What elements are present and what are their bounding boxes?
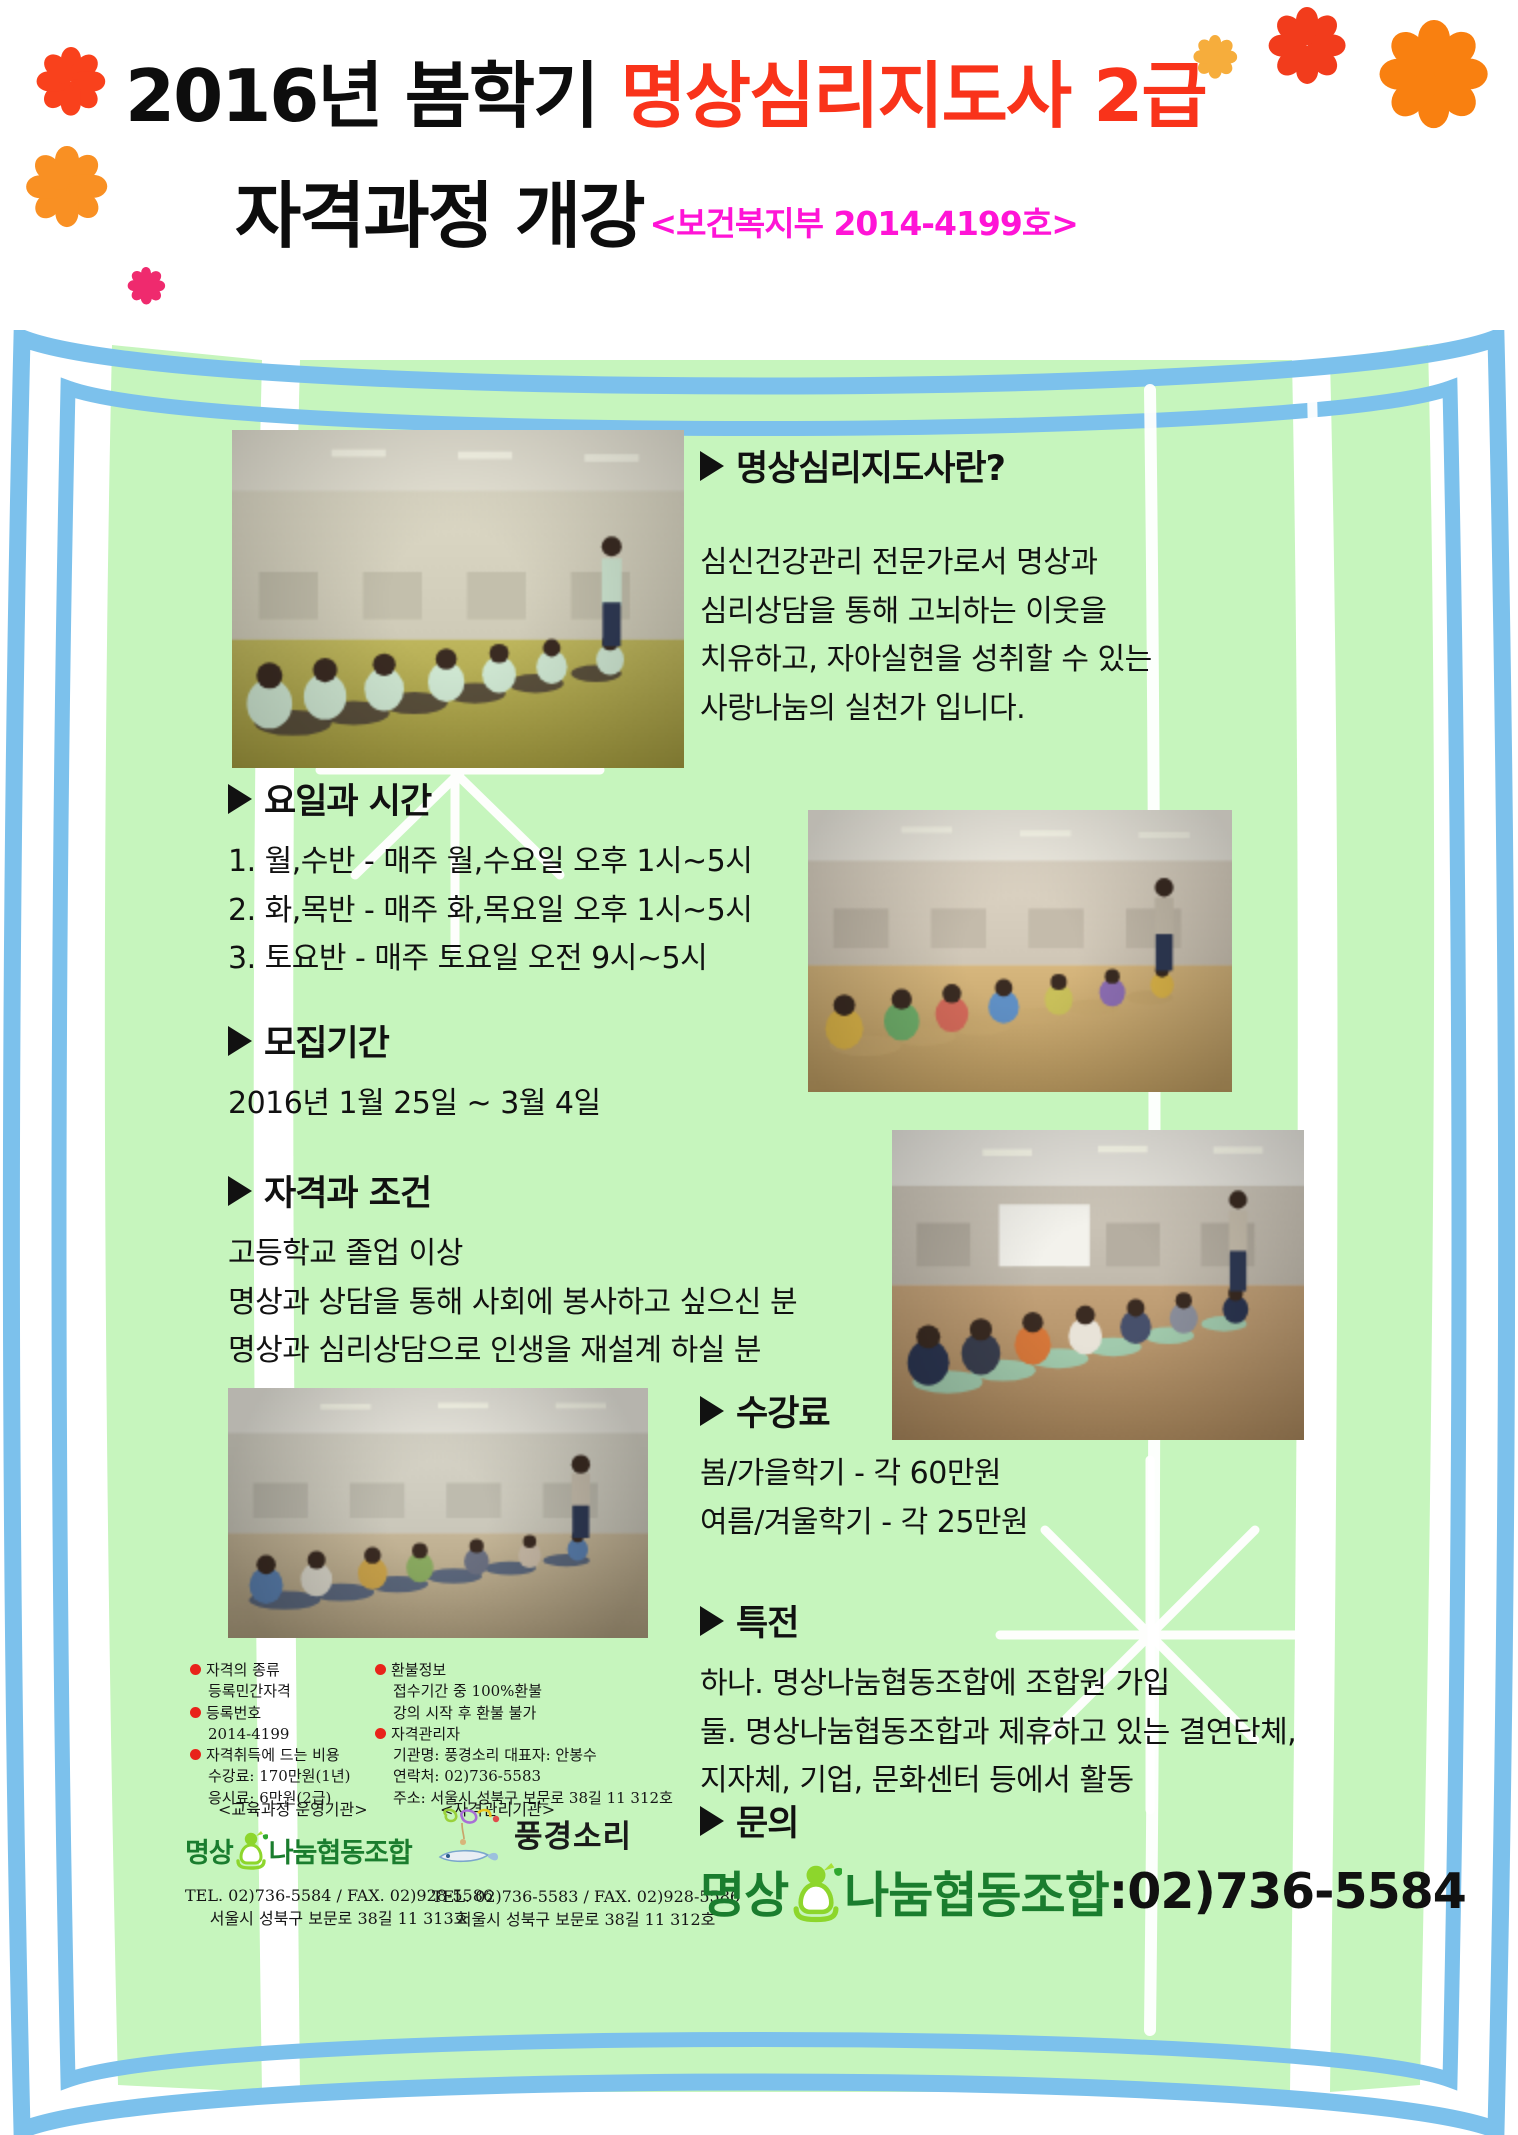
- section-schedule-heading: 요일과 시간: [228, 773, 752, 824]
- schedule-line: 2. 화,목반 - 매주 화,목요일 오후 1시~5시: [228, 887, 752, 936]
- section-intro-heading: 명상심리지도사란?: [700, 440, 1152, 491]
- section-requirements: 자격과 조건 고등학교 졸업 이상 명상과 상담을 통해 사회에 봉사하고 싶으…: [228, 1165, 797, 1376]
- fineprint-item-detail: 수강료: 170만원(1년): [190, 1766, 351, 1787]
- fineprint-col-left: 자격의 종류등록민간자격등록번호2014-4199자격취득에 드는 비용수강료:…: [190, 1660, 351, 1809]
- wind-chime-fish-icon: 풍경소리: [432, 1805, 632, 1869]
- section-period-heading: 모집기간: [228, 1015, 601, 1066]
- contact-phone-number: 02)736-5584: [1127, 1863, 1466, 1920]
- fineprint-item-detail: 접수기간 중 100%환불: [375, 1681, 673, 1702]
- flower-red-top: [1270, 8, 1344, 82]
- fineprint-item-title: 자격의 종류: [206, 1660, 280, 1681]
- fineprint-item: 등록번호2014-4199: [190, 1703, 351, 1746]
- fineprint-col-right: 환불정보접수기간 중 100%환불강의 시작 후 환불 불가자격관리자기관명: …: [375, 1660, 673, 1809]
- section-intro-heading-text: 명상심리지도사란?: [736, 440, 1005, 491]
- benefits-line: 하나. 명상나눔협동조합에 조합원 가입: [700, 1660, 1296, 1709]
- fineprint-item: 자격의 종류등록민간자격: [190, 1660, 351, 1703]
- triangle-bullet-icon: [700, 1396, 724, 1426]
- fineprint-caption-left: <교육과정 운영기관>: [218, 1796, 368, 1820]
- flower-orange-left: [28, 148, 106, 226]
- triangle-bullet-icon: [228, 784, 252, 814]
- fineprint-item-detail: 기관명: 풍경소리 대표자: 안봉수: [375, 1745, 673, 1766]
- intro-line: 심리상담을 통해 고뇌하는 이웃을: [700, 588, 1152, 637]
- tuition-line: 여름/겨울학기 - 각 25만원: [700, 1499, 1028, 1548]
- fineprint-item-title-row: 자격관리자: [375, 1724, 673, 1745]
- flower-yellow-small: [1194, 36, 1236, 78]
- flower-red-topleft: [38, 48, 104, 114]
- tuition-line: 봄/가을학기 - 각 60만원: [700, 1450, 1028, 1499]
- section-period: 모집기간 2016년 1월 25일 ~ 3월 4일: [228, 1015, 601, 1129]
- section-requirements-heading: 자격과 조건: [228, 1165, 797, 1216]
- red-dot-bullet-icon: [190, 1749, 201, 1760]
- svg-text:풍경소리: 풍경소리: [514, 1819, 632, 1855]
- triangle-bullet-icon: [700, 1606, 724, 1636]
- requirements-line: 명상과 상담을 통해 사회에 봉사하고 싶으신 분: [228, 1279, 797, 1328]
- fineprint-item-title-row: 등록번호: [190, 1703, 351, 1724]
- red-dot-bullet-icon: [375, 1728, 386, 1739]
- poster-title-block: 2016년 봄학기 명상심리지도사 2급 자격과정 개강<보건복지부 2014-…: [0, 50, 1518, 320]
- contact-org-post: 나눔협동조합: [844, 1856, 1108, 1927]
- benefits-line: 둘. 명상나눔협동조합과 제휴하고 있는 결연단체,: [700, 1709, 1296, 1758]
- section-schedule: 요일과 시간 1. 월,수반 - 매주 월,수요일 오후 1시~5시 2. 화,…: [228, 773, 752, 984]
- section-tuition: 수강료 봄/가을학기 - 각 60만원 여름/겨울학기 - 각 25만원: [700, 1385, 1028, 1547]
- fineprint-item-title-row: 자격의 종류: [190, 1660, 351, 1681]
- triangle-bullet-icon: [700, 451, 724, 481]
- schedule-line: 1. 월,수반 - 매주 월,수요일 오후 1시~5시: [228, 838, 752, 887]
- fineprint-item-detail: 2014-4199: [190, 1724, 351, 1745]
- title-course-open: 자격과정 개강: [235, 174, 644, 258]
- logo-right-tel: TEL. 02)736-5583 / FAX. 02)928-5586: [432, 1885, 740, 1908]
- fineprint-item-detail: 강의 시작 후 환불 불가: [375, 1703, 673, 1724]
- logo-right-contact: TEL. 02)736-5583 / FAX. 02)928-5586 서울시 …: [432, 1885, 740, 1931]
- triangle-bullet-icon: [228, 1026, 252, 1056]
- poster-root: 2016년 봄학기 명상심리지도사 2급 자격과정 개강<보건복지부 2014-…: [0, 0, 1518, 2135]
- fineprint-item-title: 자격관리자: [391, 1724, 460, 1745]
- triangle-bullet-icon: [228, 1176, 252, 1206]
- contact-organization-phone: 명상 나눔협동조합 : 02)736-5584: [700, 1856, 1466, 1927]
- intro-line: 치유하고, 자아실현을 성취할 수 있는: [700, 636, 1152, 685]
- intro-line: 심신건강관리 전문가로서 명상과: [700, 539, 1152, 588]
- flower-orange-topright: [1382, 22, 1486, 126]
- section-benefits: 특전 하나. 명상나눔협동조합에 조합원 가입 둘. 명상나눔협동조합과 제휴하…: [700, 1595, 1296, 1806]
- contact-separator: :: [1109, 1863, 1128, 1920]
- title-course-name: 명상심리지도사 2급: [620, 54, 1205, 138]
- section-benefits-heading-text: 특전: [736, 1595, 798, 1646]
- section-schedule-heading-text: 요일과 시간: [264, 773, 431, 824]
- title-registration-number: <보건복지부 2014-4199호>: [650, 204, 1078, 243]
- intro-line: 사랑나눔의 실천가 입니다.: [700, 685, 1152, 734]
- logo-right-address: 서울시 성북구 보문로 38길 11 312호: [432, 1908, 740, 1931]
- requirements-line: 명상과 심리상담으로 인생을 재설계 하실 분: [228, 1327, 797, 1376]
- fineprint-item-title-row: 환불정보: [375, 1660, 673, 1681]
- title-year-term: 2016년 봄학기: [125, 54, 620, 138]
- red-dot-bullet-icon: [190, 1664, 201, 1675]
- requirements-line: 고등학교 졸업 이상: [228, 1230, 797, 1279]
- red-dot-bullet-icon: [190, 1707, 201, 1718]
- fineprint-item-detail: 연락처: 02)736-5583: [375, 1766, 673, 1787]
- meditating-figure-icon: [790, 1861, 842, 1923]
- section-requirements-heading-text: 자격과 조건: [264, 1165, 431, 1216]
- flower-pink-lowleft: [128, 268, 164, 304]
- fineprint-item-title: 환불정보: [391, 1660, 446, 1681]
- fineprint-item-title: 등록번호: [206, 1703, 261, 1724]
- section-tuition-heading: 수강료: [700, 1385, 1028, 1436]
- section-benefits-heading: 특전: [700, 1595, 1296, 1646]
- red-dot-bullet-icon: [375, 1664, 386, 1675]
- section-tuition-heading-text: 수강료: [736, 1385, 830, 1436]
- logo-pungyeongsori: 풍경소리 TEL. 02)736-5583 / FAX. 02)928-5586…: [432, 1805, 740, 1931]
- section-inquiry-heading-text: 문의: [736, 1795, 798, 1846]
- contact-org-pre: 명상: [700, 1856, 788, 1927]
- section-period-heading-text: 모집기간: [264, 1015, 389, 1066]
- fineprint-item-title-row: 자격취득에 드는 비용: [190, 1745, 351, 1766]
- title-line-2: 자격과정 개강<보건복지부 2014-4199호>: [235, 180, 1078, 252]
- logo-name-post: 나눔협동조합: [269, 1831, 412, 1870]
- meditating-figure-icon: [234, 1830, 268, 1870]
- logo-name-pre: 명상: [185, 1831, 233, 1870]
- fineprint-block: 자격의 종류등록민간자격등록번호2014-4199자격취득에 드는 비용수강료:…: [190, 1660, 710, 1790]
- period-line: 2016년 1월 25일 ~ 3월 4일: [228, 1080, 601, 1129]
- title-line-1: 2016년 봄학기 명상심리지도사 2급: [125, 60, 1206, 132]
- fineprint-item: 환불정보접수기간 중 100%환불강의 시작 후 환불 불가: [375, 1660, 673, 1724]
- fineprint-item-title: 자격취득에 드는 비용: [206, 1745, 340, 1766]
- section-intro: 명상심리지도사란? 심신건강관리 전문가로서 명상과 심리상담을 통해 고뇌하는…: [700, 440, 1152, 733]
- fineprint-item-detail: 등록민간자격: [190, 1681, 351, 1702]
- schedule-line: 3. 토요반 - 매주 토요일 오전 9시~5시: [228, 935, 752, 984]
